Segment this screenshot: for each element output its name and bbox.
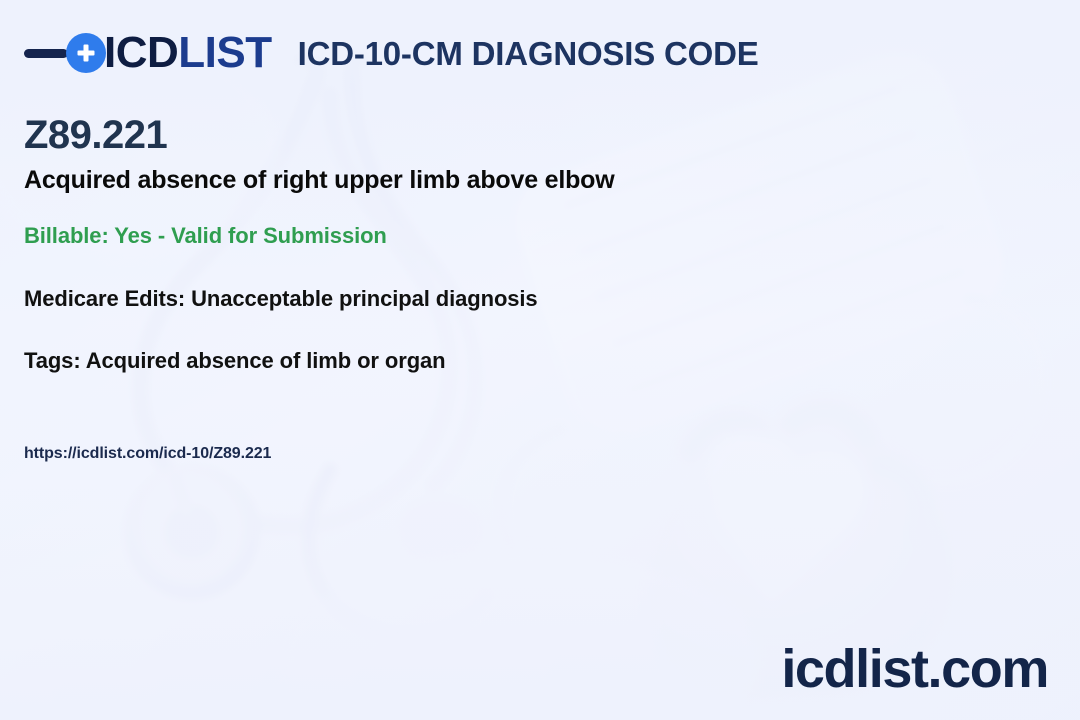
diagnosis-description: Acquired absence of right upper limb abo… <box>24 165 615 195</box>
medicare-edits-text: Medicare Edits: Unacceptable principal d… <box>24 286 538 312</box>
billable-status-badge: Billable: Yes - Valid for Submission <box>24 223 387 249</box>
source-url-link[interactable]: https://icdlist.com/icd-10/Z89.221 <box>24 444 271 463</box>
brand-logo-icd: ICD <box>104 31 178 75</box>
dash-icon <box>24 49 68 58</box>
tags-text: Tags: Acquired absence of limb or organ <box>24 348 446 374</box>
footer-brand: icdlist.com <box>781 642 1048 696</box>
icd-code-card: ICD LIST ICD-10-CM DIAGNOSIS CODE Z89.22… <box>0 0 1080 720</box>
card-content: ICD LIST ICD-10-CM DIAGNOSIS CODE Z89.22… <box>0 0 1080 720</box>
plus-icon <box>66 33 106 73</box>
header: ICD LIST ICD-10-CM DIAGNOSIS CODE <box>24 26 759 80</box>
page-title: ICD-10-CM DIAGNOSIS CODE <box>298 37 759 70</box>
brand-logo-list: LIST <box>178 31 271 75</box>
diagnosis-code: Z89.221 <box>24 113 167 157</box>
brand-logo[interactable]: ICD LIST <box>24 26 272 80</box>
